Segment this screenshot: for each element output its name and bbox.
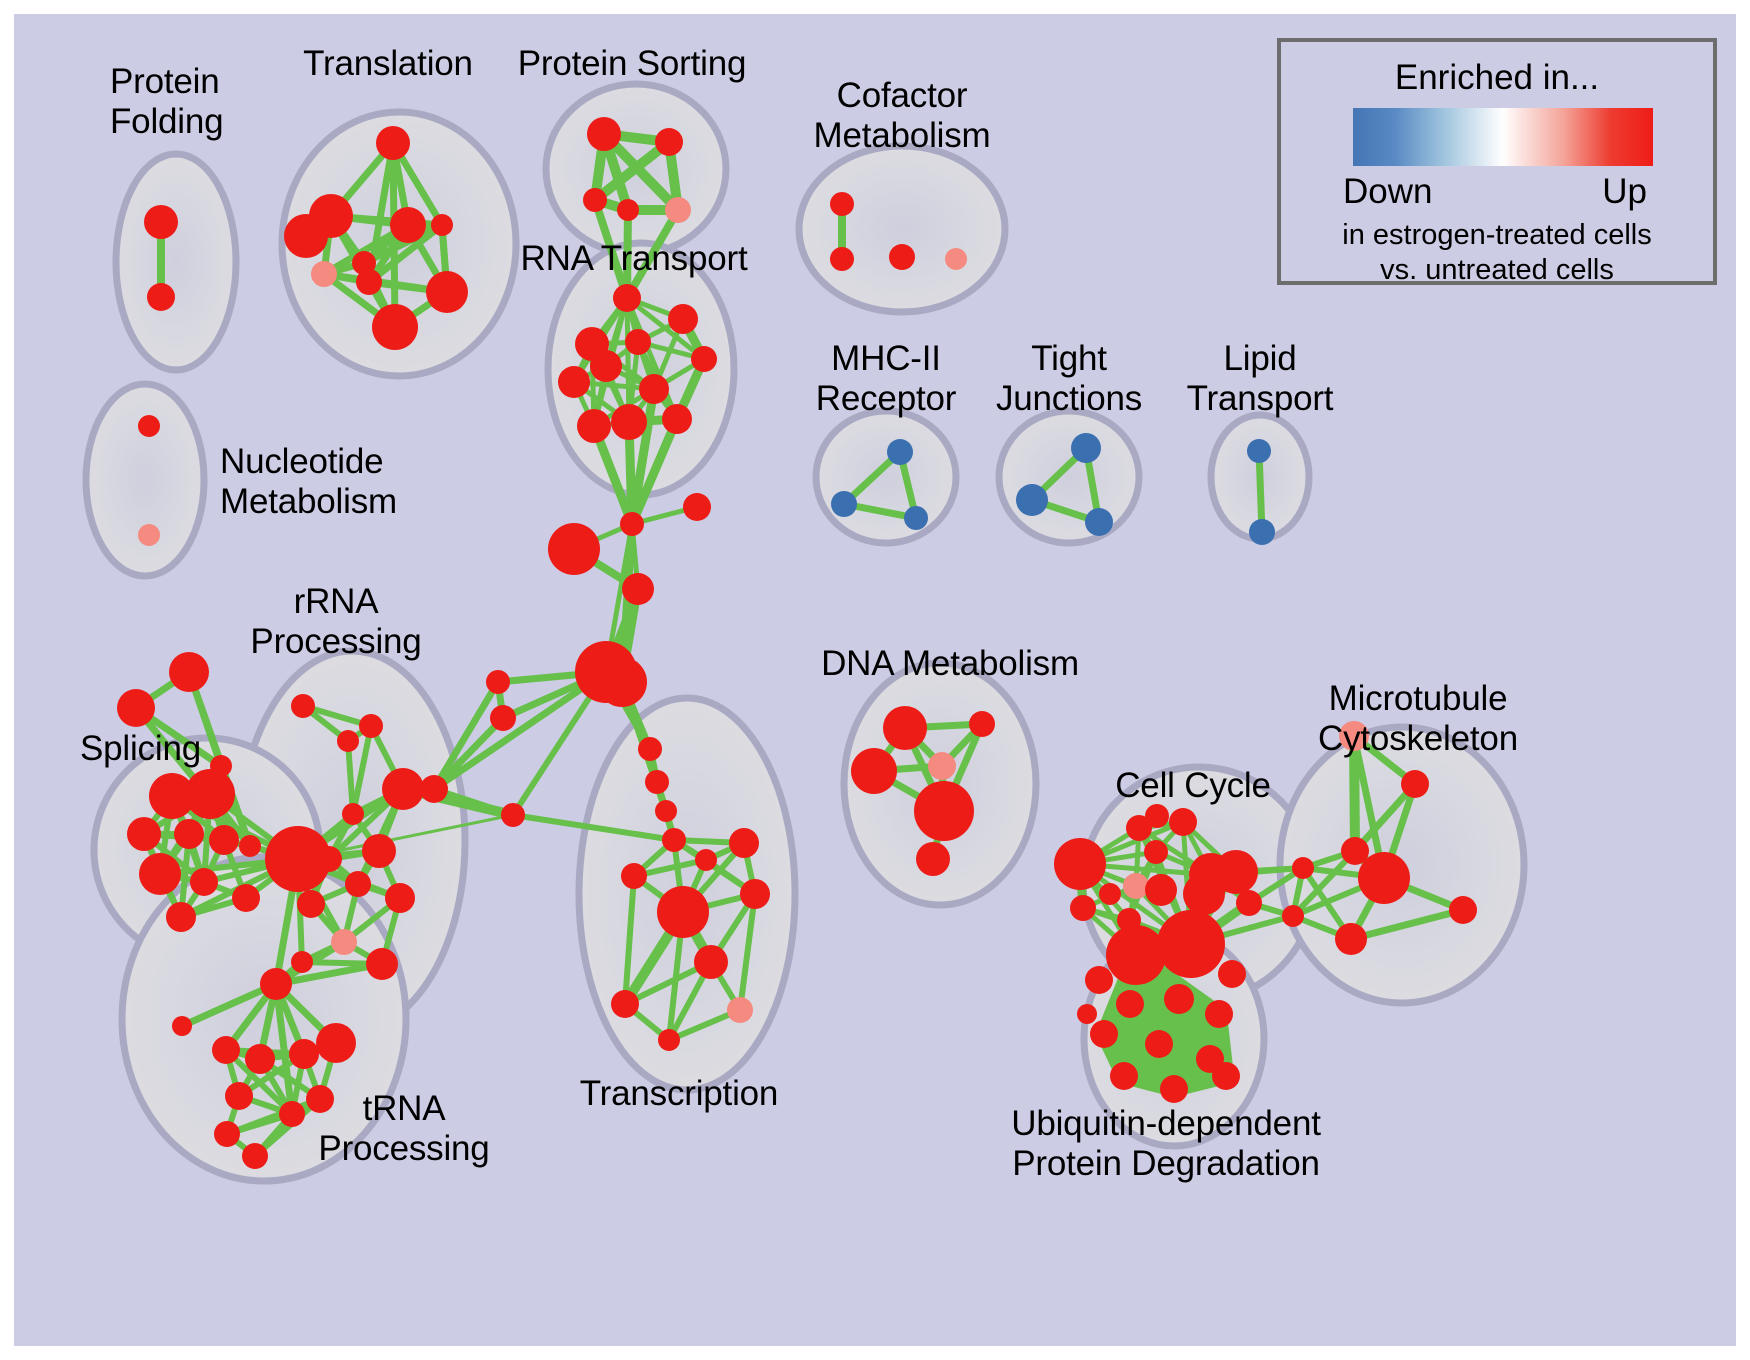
node bbox=[420, 775, 448, 803]
node bbox=[1145, 804, 1169, 828]
legend-up-label: Up bbox=[1602, 172, 1647, 212]
node bbox=[297, 890, 325, 918]
node bbox=[620, 512, 644, 536]
node bbox=[1145, 874, 1177, 906]
node bbox=[830, 192, 854, 216]
node bbox=[174, 819, 204, 849]
node bbox=[291, 951, 313, 973]
node bbox=[662, 404, 692, 434]
node bbox=[691, 346, 717, 372]
hull-nucleotide bbox=[86, 384, 204, 576]
node bbox=[1292, 857, 1314, 879]
node bbox=[597, 657, 647, 707]
node bbox=[209, 825, 239, 855]
node bbox=[390, 207, 426, 243]
node bbox=[658, 1029, 680, 1051]
node bbox=[1339, 721, 1369, 751]
node bbox=[291, 694, 315, 718]
node bbox=[242, 1143, 268, 1169]
node bbox=[486, 670, 510, 694]
node bbox=[331, 929, 357, 955]
node bbox=[316, 1023, 356, 1063]
node bbox=[1247, 439, 1271, 463]
node bbox=[225, 1082, 253, 1110]
node bbox=[311, 261, 337, 287]
legend-panel: Enriched in... Down Up in estrogen-treat… bbox=[1277, 38, 1717, 285]
node bbox=[139, 853, 181, 895]
hull-trna-processing bbox=[122, 857, 406, 1181]
node bbox=[1218, 960, 1246, 988]
node bbox=[914, 781, 974, 841]
node bbox=[1282, 905, 1304, 927]
node bbox=[426, 271, 468, 313]
node bbox=[362, 834, 396, 868]
node bbox=[376, 126, 410, 160]
node bbox=[638, 737, 662, 761]
node bbox=[190, 868, 218, 896]
node bbox=[577, 409, 611, 443]
node bbox=[655, 800, 677, 822]
node bbox=[1145, 1030, 1173, 1058]
node bbox=[740, 879, 770, 909]
node bbox=[683, 493, 711, 521]
node bbox=[1169, 808, 1197, 836]
node bbox=[359, 714, 383, 738]
node bbox=[1212, 1062, 1240, 1090]
node bbox=[1205, 1000, 1233, 1028]
node bbox=[639, 374, 669, 404]
node bbox=[138, 415, 160, 437]
node bbox=[645, 770, 669, 794]
node bbox=[284, 214, 328, 258]
node bbox=[1401, 770, 1429, 798]
node bbox=[169, 652, 209, 692]
node bbox=[969, 711, 995, 737]
node bbox=[558, 366, 590, 398]
node bbox=[1116, 990, 1144, 1018]
node bbox=[665, 197, 691, 223]
node bbox=[431, 214, 453, 236]
node bbox=[1106, 925, 1166, 985]
node bbox=[166, 902, 196, 932]
node bbox=[356, 269, 382, 295]
legend-title: Enriched in... bbox=[1281, 58, 1713, 98]
node bbox=[1054, 838, 1106, 890]
node bbox=[147, 283, 175, 311]
node bbox=[1335, 923, 1367, 955]
node bbox=[372, 304, 418, 350]
node bbox=[245, 1044, 275, 1074]
node bbox=[214, 1121, 240, 1147]
node bbox=[382, 768, 424, 810]
node bbox=[617, 199, 639, 221]
node bbox=[729, 828, 759, 858]
node bbox=[916, 842, 950, 876]
node bbox=[830, 247, 854, 271]
node bbox=[1144, 840, 1168, 864]
node bbox=[172, 1016, 192, 1036]
node bbox=[945, 248, 967, 270]
node bbox=[342, 803, 364, 825]
hull-cofactor bbox=[799, 146, 1005, 312]
legend-subtitle-line2: vs. untreated cells bbox=[1380, 254, 1614, 286]
node bbox=[611, 990, 639, 1018]
node bbox=[1123, 873, 1149, 899]
node bbox=[279, 1101, 305, 1127]
node bbox=[1077, 1004, 1097, 1024]
node bbox=[366, 948, 398, 980]
node bbox=[501, 803, 525, 827]
figure-canvas: Protein Folding Translation Protein Sort… bbox=[0, 0, 1750, 1360]
node bbox=[260, 968, 292, 1000]
legend-subtitle-line1: in estrogen-treated cells bbox=[1342, 219, 1652, 251]
node bbox=[1164, 984, 1194, 1014]
node bbox=[1249, 519, 1275, 545]
node bbox=[1070, 895, 1096, 921]
node bbox=[831, 491, 857, 517]
node bbox=[548, 523, 600, 575]
node bbox=[662, 828, 686, 852]
node bbox=[1085, 508, 1113, 536]
node bbox=[1016, 484, 1048, 516]
node bbox=[883, 706, 927, 750]
node bbox=[239, 835, 261, 857]
hull-protein-folding bbox=[116, 154, 236, 370]
node bbox=[587, 117, 621, 151]
node bbox=[289, 1039, 319, 1069]
node bbox=[1090, 1020, 1118, 1048]
node bbox=[144, 205, 178, 239]
node bbox=[622, 573, 654, 605]
node bbox=[904, 506, 928, 530]
node bbox=[265, 826, 331, 892]
node bbox=[613, 284, 641, 312]
node bbox=[851, 748, 897, 794]
node bbox=[657, 886, 709, 938]
node bbox=[138, 524, 160, 546]
node bbox=[185, 769, 235, 819]
enrichment-map: Protein Folding Translation Protein Sort… bbox=[14, 14, 1736, 1346]
node bbox=[727, 997, 753, 1023]
node bbox=[694, 945, 728, 979]
node bbox=[1358, 852, 1410, 904]
node bbox=[337, 730, 359, 752]
node bbox=[1157, 910, 1225, 978]
node bbox=[668, 304, 698, 334]
node bbox=[1071, 433, 1101, 463]
node bbox=[887, 439, 913, 465]
node bbox=[1160, 1075, 1188, 1103]
node bbox=[590, 350, 622, 382]
hull-tight-junctions bbox=[999, 411, 1139, 543]
legend-color-gradient bbox=[1353, 108, 1653, 166]
node bbox=[1183, 873, 1225, 915]
legend-down-label: Down bbox=[1343, 172, 1432, 212]
node bbox=[928, 752, 956, 780]
node bbox=[117, 689, 155, 727]
node bbox=[1085, 966, 1113, 994]
node bbox=[232, 884, 260, 912]
node bbox=[1236, 890, 1262, 916]
node bbox=[127, 817, 161, 851]
node bbox=[611, 404, 647, 440]
node bbox=[1110, 1062, 1138, 1090]
node bbox=[621, 863, 647, 889]
node bbox=[1449, 896, 1477, 924]
hull-mhc bbox=[816, 411, 956, 543]
node bbox=[345, 871, 371, 897]
node bbox=[306, 1085, 334, 1113]
node bbox=[490, 705, 516, 731]
node bbox=[385, 883, 415, 913]
node bbox=[695, 849, 717, 871]
legend-subtitle: in estrogen-treated cellsvs. untreated c… bbox=[1281, 218, 1713, 289]
node bbox=[625, 329, 651, 355]
node bbox=[212, 1036, 240, 1064]
node bbox=[655, 128, 683, 156]
node bbox=[583, 188, 607, 212]
node bbox=[1099, 883, 1121, 905]
node bbox=[889, 244, 915, 270]
